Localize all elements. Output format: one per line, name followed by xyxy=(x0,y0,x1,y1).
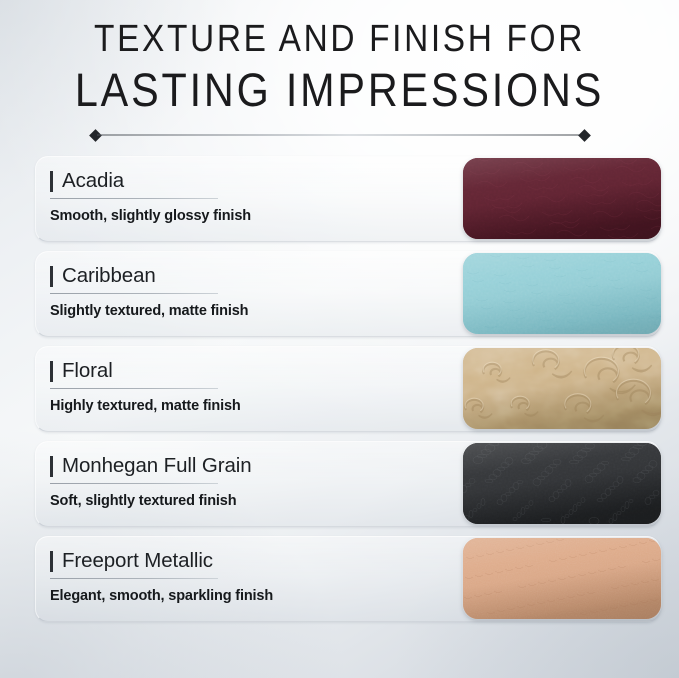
finish-text-block: Freeport Metallic Elegant, smooth, spark… xyxy=(50,548,350,604)
finish-name-underline xyxy=(50,198,218,199)
finish-name-row: Freeport Metallic xyxy=(50,548,350,574)
finish-text-block: Monhegan Full Grain Soft, slightly textu… xyxy=(50,453,350,509)
finish-description: Highly textured, matte finish xyxy=(50,398,350,414)
accent-bar-icon xyxy=(50,266,53,287)
finish-description: Soft, slightly textured finish xyxy=(50,493,350,509)
finish-name: Floral xyxy=(62,359,113,383)
finish-description: Smooth, slightly glossy finish xyxy=(50,208,350,224)
finish-description: Elegant, smooth, sparkling finish xyxy=(50,588,350,604)
finish-name: Acadia xyxy=(62,169,124,193)
accent-bar-icon xyxy=(50,171,53,192)
finish-name-underline xyxy=(50,483,218,484)
list-item-floral[interactable]: Floral Highly textured, matte finish xyxy=(0,344,679,439)
list-item-monhegan-full-grain[interactable]: Monhegan Full Grain Soft, slightly textu… xyxy=(0,439,679,534)
metallic-sparkling-texture-icon xyxy=(463,538,661,619)
poster-header: TEXTURE AND FINISH FOR LASTING IMPRESSIO… xyxy=(0,0,679,140)
finish-name: Monhegan Full Grain xyxy=(62,454,252,478)
full-grain-pebbled-texture-icon xyxy=(463,443,661,524)
page-title-line-2: LASTING IMPRESSIONS xyxy=(41,66,639,113)
page-title-line-1: TEXTURE AND FINISH FOR xyxy=(41,20,639,58)
finish-text-block: Caribbean Slightly textured, matte finis… xyxy=(50,263,350,319)
finish-name-underline xyxy=(50,293,218,294)
diamond-ornament-right-icon xyxy=(578,129,591,142)
accent-bar-icon xyxy=(50,361,53,382)
smooth-glossy-texture-icon xyxy=(463,158,661,239)
list-item-caribbean[interactable]: Caribbean Slightly textured, matte finis… xyxy=(0,249,679,344)
poster-canvas: TEXTURE AND FINISH FOR LASTING IMPRESSIO… xyxy=(0,0,679,678)
slightly-textured-matte-texture-icon xyxy=(463,253,661,334)
acadia-burgundy-leather-swatch[interactable] xyxy=(463,158,661,239)
finish-name-row: Caribbean xyxy=(50,263,350,289)
accent-bar-icon xyxy=(50,456,53,477)
finish-text-block: Floral Highly textured, matte finish xyxy=(50,358,350,414)
floral-embossed-tan-leather-swatch[interactable] xyxy=(463,348,661,429)
divider-rule xyxy=(97,135,583,136)
finish-name-underline xyxy=(50,388,218,389)
finish-name-row: Acadia xyxy=(50,168,350,194)
monhegan-black-full-grain-leather-swatch[interactable] xyxy=(463,443,661,524)
freeport-metallic-peach-leather-swatch[interactable] xyxy=(463,538,661,619)
finish-name-row: Monhegan Full Grain xyxy=(50,453,350,479)
accent-bar-icon xyxy=(50,551,53,572)
finish-text-block: Acadia Smooth, slightly glossy finish xyxy=(50,168,350,224)
caribbean-turquoise-leather-swatch[interactable] xyxy=(463,253,661,334)
finish-description: Slightly textured, matte finish xyxy=(50,303,350,319)
finish-name: Freeport Metallic xyxy=(62,549,213,573)
divider-ornament xyxy=(91,130,589,140)
list-item-acadia[interactable]: Acadia Smooth, slightly glossy finish xyxy=(0,154,679,249)
finish-name-underline xyxy=(50,578,218,579)
finish-name-row: Floral xyxy=(50,358,350,384)
finish-list: Acadia Smooth, slightly glossy finish Ca… xyxy=(0,154,679,629)
list-item-freeport-metallic[interactable]: Freeport Metallic Elegant, smooth, spark… xyxy=(0,534,679,629)
finish-name: Caribbean xyxy=(62,264,156,288)
embossed-floral-texture-icon xyxy=(463,348,661,429)
